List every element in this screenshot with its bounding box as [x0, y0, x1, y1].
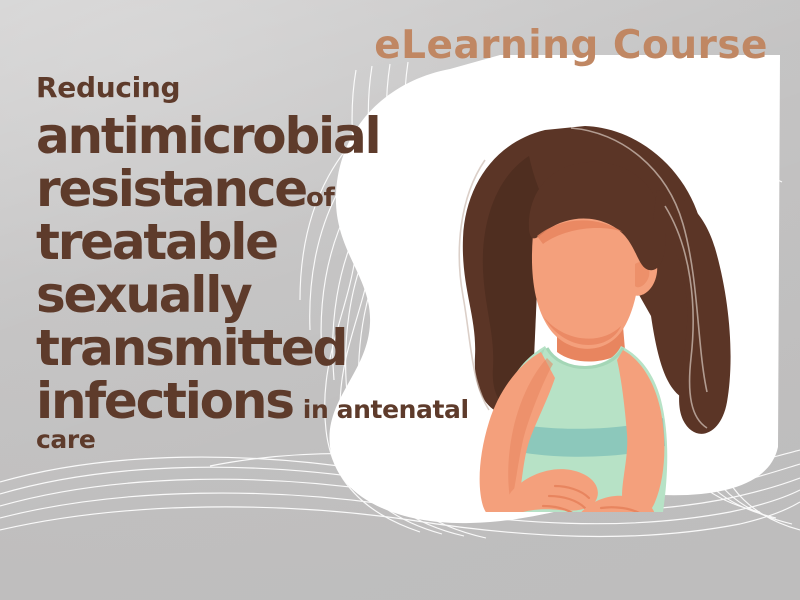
headline-line-reducing: Reducing [36, 74, 516, 102]
headline-tail-in-antenatal: in antenatal [303, 395, 469, 424]
course-banner: eLearning Course Reducing antimicrobial … [0, 0, 800, 600]
course-kicker: eLearning Course [374, 26, 768, 65]
headline-line-resistance-of: resistanceof [36, 163, 516, 216]
headline-line-infections-in-antenatal: infectionsin antenatal [36, 375, 516, 428]
headline-word-of: of [306, 183, 334, 213]
page-title: Reducing antimicrobial resistanceof trea… [36, 74, 516, 454]
headline-line-antimicrobial: antimicrobial [36, 110, 516, 163]
headline-line-transmitted: transmitted [36, 322, 516, 375]
headline-line-sexually: sexually [36, 269, 516, 322]
headline-line-treatable: treatable [36, 216, 516, 269]
headline-word-resistance: resistance [36, 160, 306, 218]
headline-word-infections: infections [36, 372, 293, 430]
headline-tail-care: care [36, 426, 516, 454]
